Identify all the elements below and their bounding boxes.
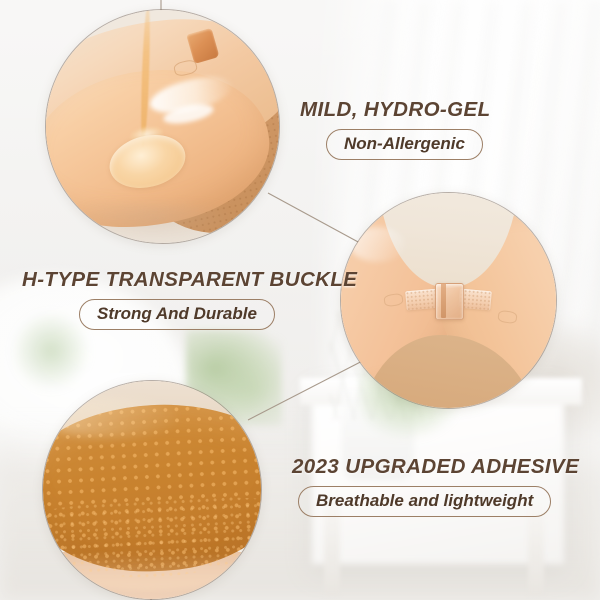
transparent-clasp — [435, 283, 465, 319]
callout-hydrogel: MILD, HYDRO-GEL Non-Allergenic — [300, 98, 491, 160]
callout-adhesive-title: 2023 UPGRADED ADHESIVE — [292, 455, 579, 479]
hydro-gel-pour-photo — [45, 9, 280, 244]
cup-drop-shadow — [69, 203, 237, 240]
adhesive-gloss — [47, 398, 178, 437]
callout-buckle: H-TYPE TRANSPARENT BUCKLE Strong And Dur… — [22, 268, 357, 330]
photo-sheen — [350, 227, 406, 261]
callout-adhesive-subtitle: Breathable and lightweight — [298, 486, 551, 517]
callout-buckle-subtitle: Strong And Durable — [79, 299, 275, 330]
buckle-strap-left-texture — [405, 288, 439, 310]
clasp-center-bar — [441, 283, 446, 317]
callout-hydrogel-title: MILD, HYDRO-GEL — [300, 98, 491, 122]
product-feature-infographic: MILD, HYDRO-GEL Non-Allergenic H-TYPE TR… — [0, 0, 600, 600]
h-type-buckle-photo — [340, 192, 557, 409]
callout-buckle-title: H-TYPE TRANSPARENT BUCKLE — [22, 268, 357, 292]
upgraded-adhesive-photo — [42, 380, 262, 600]
callout-hydrogel-subtitle: Non-Allergenic — [326, 129, 483, 160]
callout-adhesive: 2023 UPGRADED ADHESIVE Breathable and li… — [292, 455, 579, 517]
adhesive-lower-sheen — [56, 551, 239, 590]
